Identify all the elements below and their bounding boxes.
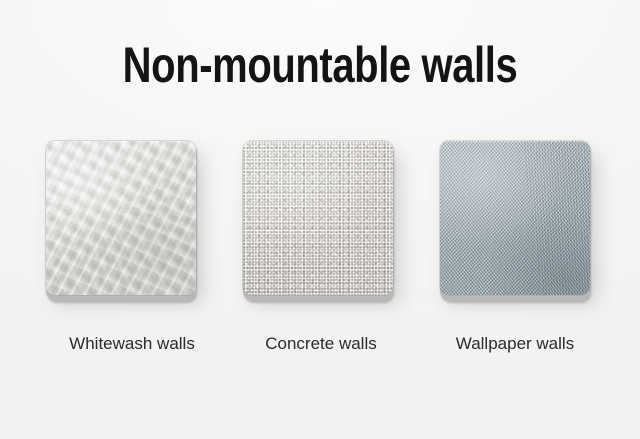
tile-surface-concrete bbox=[243, 141, 393, 295]
wall-swatch-whitewash bbox=[46, 141, 196, 306]
tile-surface-whitewash bbox=[46, 141, 196, 295]
swatch-label-whitewash: Whitewash walls bbox=[32, 333, 232, 355]
swatch-label-concrete: Concrete walls bbox=[221, 333, 421, 355]
tile-bevel-body bbox=[440, 141, 590, 301]
texture-layer-coarse-stipple bbox=[243, 141, 393, 295]
wall-swatch-wallpaper bbox=[440, 141, 590, 306]
poster-canvas: Non-mountable walls bbox=[0, 0, 640, 439]
tile-bevel-body bbox=[243, 141, 393, 301]
wall-swatch-row bbox=[0, 141, 640, 306]
swatch-caption-row: Whitewash walls Concrete walls Wallpaper… bbox=[0, 333, 640, 361]
tile-bevel-body bbox=[46, 141, 196, 301]
wall-swatch-concrete bbox=[243, 141, 393, 306]
swatch-label-wallpaper: Wallpaper walls bbox=[415, 333, 615, 355]
tile-surface-wallpaper bbox=[440, 141, 590, 295]
texture-layer-grain bbox=[46, 141, 196, 295]
page-title: Non-mountable walls bbox=[64, 39, 576, 91]
texture-layer-sheen bbox=[440, 141, 590, 295]
